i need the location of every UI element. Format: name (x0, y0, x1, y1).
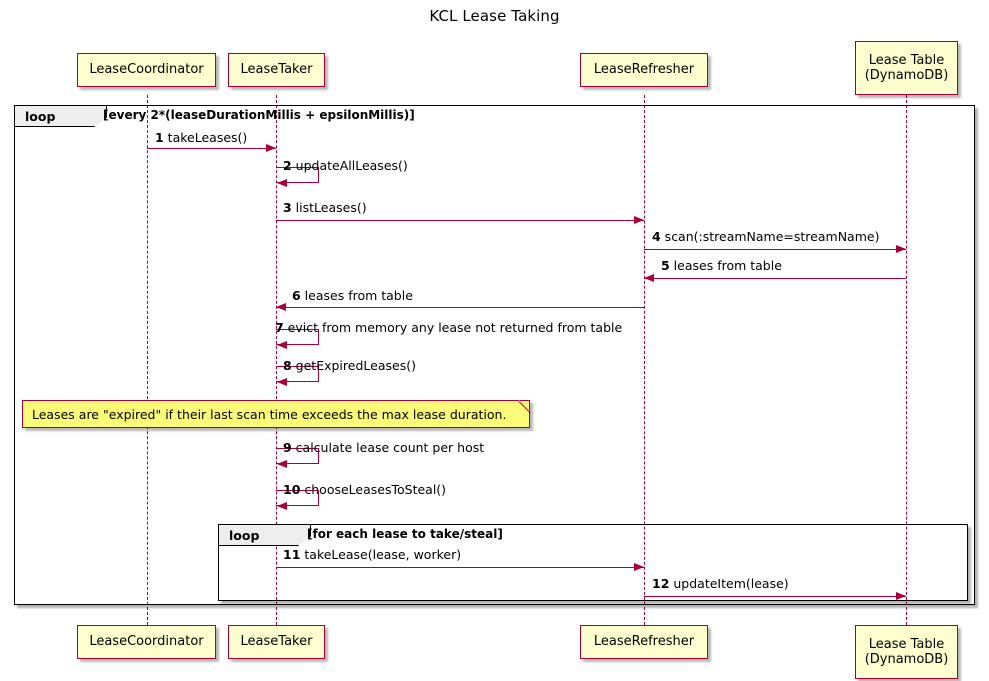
message-7-label: 7 evict from memory any lease not return… (275, 320, 622, 335)
message-8-text: getExpiredLeases() (292, 358, 416, 373)
message-12-arrowhead (896, 592, 906, 600)
message-9-text: calculate lease count per host (292, 440, 484, 455)
message-5-label: 5 leases from table (661, 258, 782, 273)
message-4-arrowhead (896, 245, 906, 253)
message-1-line (147, 148, 276, 149)
message-6-label: 6 leases from table (292, 288, 413, 303)
message-5-number: 5 (661, 258, 670, 273)
message-7-text: evict from memory any lease not returned… (284, 320, 622, 335)
participant-top-lease-taker[interactable]: LeaseTaker (228, 53, 325, 87)
message-4-text: scan(:streamName=streamName) (661, 229, 880, 244)
frame-inner-loop: loop[for each lease to take/steal] (218, 524, 968, 601)
participant-bottom-lease-refresher[interactable]: LeaseRefresher (580, 625, 708, 659)
message-11-arrowhead (634, 563, 644, 571)
message-10-text: chooseLeasesToSteal() (300, 482, 446, 497)
sequence-diagram-canvas: KCL Lease Taking loop[every 2*(leaseDura… (0, 0, 989, 681)
message-1-label: 1 takeLeases() (155, 130, 247, 145)
frame-label-outer-loop: loop (15, 106, 107, 127)
participant-top-lease-table[interactable]: Lease Table (DynamoDB) (855, 41, 958, 95)
message-2-number: 2 (283, 158, 292, 173)
participant-bottom-lease-table[interactable]: Lease Table (DynamoDB) (855, 625, 958, 679)
page-title: KCL Lease Taking (0, 7, 989, 25)
message-9-arrowhead (277, 460, 287, 468)
message-11-line (276, 567, 644, 568)
message-3-text: listLeases() (292, 200, 367, 215)
message-3-number: 3 (283, 200, 292, 215)
message-10-label: 10 chooseLeasesToSteal() (283, 482, 446, 497)
message-8-label: 8 getExpiredLeases() (283, 358, 416, 373)
message-9-number: 9 (283, 440, 292, 455)
message-12-label: 12 updateItem(lease) (652, 576, 789, 591)
message-7-arrowhead (277, 341, 287, 349)
message-11-label: 11 takeLease(lease, worker) (283, 547, 461, 562)
message-2-label: 2 updateAllLeases() (283, 158, 408, 173)
message-6-arrowhead (276, 303, 286, 311)
message-10-number: 10 (283, 482, 300, 497)
message-4-label: 4 scan(:streamName=streamName) (652, 229, 879, 244)
message-3-line (276, 220, 644, 221)
message-10-arrowhead (277, 502, 287, 510)
frame-condition-outer-loop: [every 2*(leaseDurationMillis + epsilonM… (103, 108, 415, 122)
note-expired-lease-note: Leases are "expired" if their last scan … (22, 400, 530, 428)
message-12-number: 12 (652, 576, 669, 591)
message-6-text: leases from table (301, 288, 413, 303)
participant-top-lease-coordinator[interactable]: LeaseCoordinator (77, 53, 216, 87)
message-1-arrowhead (266, 144, 276, 152)
message-2-arrowhead (277, 179, 287, 187)
message-7-number: 7 (275, 320, 284, 335)
frame-condition-inner-loop: [for each lease to take/steal] (307, 527, 503, 541)
participant-top-lease-refresher[interactable]: LeaseRefresher (580, 53, 708, 87)
message-12-line (644, 596, 906, 597)
message-5-line (644, 278, 906, 279)
frame-label-inner-loop: loop (219, 525, 311, 546)
message-4-number: 4 (652, 229, 661, 244)
message-11-text: takeLease(lease, worker) (300, 547, 461, 562)
message-5-arrowhead (644, 274, 654, 282)
message-9-label: 9 calculate lease count per host (283, 440, 484, 455)
participant-bottom-lease-coordinator[interactable]: LeaseCoordinator (77, 625, 216, 659)
message-3-label: 3 listLeases() (283, 200, 367, 215)
message-3-arrowhead (634, 216, 644, 224)
message-5-text: leases from table (670, 258, 782, 273)
participant-bottom-lease-taker[interactable]: LeaseTaker (228, 625, 325, 659)
message-1-number: 1 (155, 130, 164, 145)
message-8-arrowhead (277, 378, 287, 386)
message-11-number: 11 (283, 547, 300, 562)
message-1-text: takeLeases() (164, 130, 248, 145)
message-6-number: 6 (292, 288, 301, 303)
message-8-number: 8 (283, 358, 292, 373)
message-12-text: updateItem(lease) (669, 576, 788, 591)
message-2-text: updateAllLeases() (292, 158, 408, 173)
message-4-line (644, 249, 906, 250)
message-6-line (276, 307, 644, 308)
